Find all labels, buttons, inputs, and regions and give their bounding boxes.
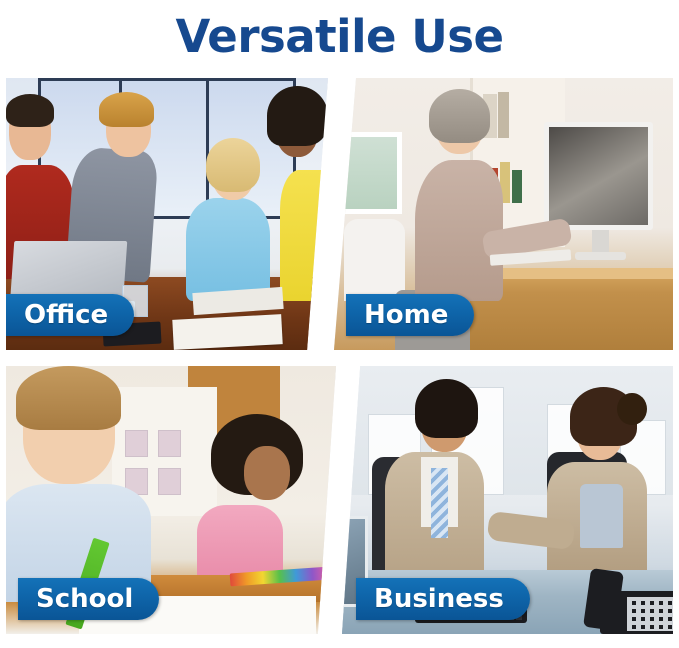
business-man-hair	[415, 379, 478, 438]
office-notebook	[173, 315, 284, 350]
school-wall-art-1	[125, 430, 148, 457]
school-boy-hair	[16, 366, 122, 430]
office-person-3-body	[186, 198, 270, 301]
office-person-3-hair	[206, 138, 261, 192]
badge-business[interactable]: Business	[356, 578, 530, 620]
office-person-4-body	[280, 170, 328, 301]
business-man-tie	[431, 468, 448, 538]
business-desk-phone	[600, 591, 673, 634]
panel-school[interactable]: School	[6, 366, 336, 634]
business-phone-keypad	[627, 597, 673, 630]
home-book-6	[498, 92, 508, 138]
badge-home[interactable]: Home	[346, 294, 474, 336]
panel-office[interactable]: Office	[6, 78, 328, 350]
badge-business-label: Business	[374, 586, 504, 612]
school-wall-art-4	[158, 468, 181, 495]
badge-home-label: Home	[364, 302, 448, 328]
badge-office[interactable]: Office	[6, 294, 134, 336]
home-chair	[344, 219, 405, 301]
badge-office-label: Office	[24, 302, 108, 328]
office-person-1-hair	[6, 94, 54, 127]
business-woman-hair-bun	[617, 393, 647, 425]
panel-home[interactable]: Home	[334, 78, 673, 350]
page-header: Versatile Use	[0, 0, 679, 72]
badge-school-label: School	[36, 586, 133, 612]
school-wall-art-2	[158, 430, 181, 457]
panel-business[interactable]: Business	[342, 366, 673, 634]
office-person-4-hair	[267, 86, 328, 146]
panel-grid: Office	[0, 78, 679, 638]
school-girl-head	[244, 446, 290, 500]
home-monitor-foot	[575, 252, 626, 260]
home-person-hair	[429, 89, 490, 143]
home-window	[334, 132, 402, 214]
home-monitor-screen	[544, 122, 652, 231]
badge-school[interactable]: School	[18, 578, 159, 620]
home-book-4	[512, 170, 522, 203]
versatile-use-page: Versatile Use	[0, 0, 679, 648]
business-woman-top	[580, 484, 623, 548]
office-person-2-hair	[99, 92, 154, 127]
page-title: Versatile Use	[175, 14, 503, 59]
